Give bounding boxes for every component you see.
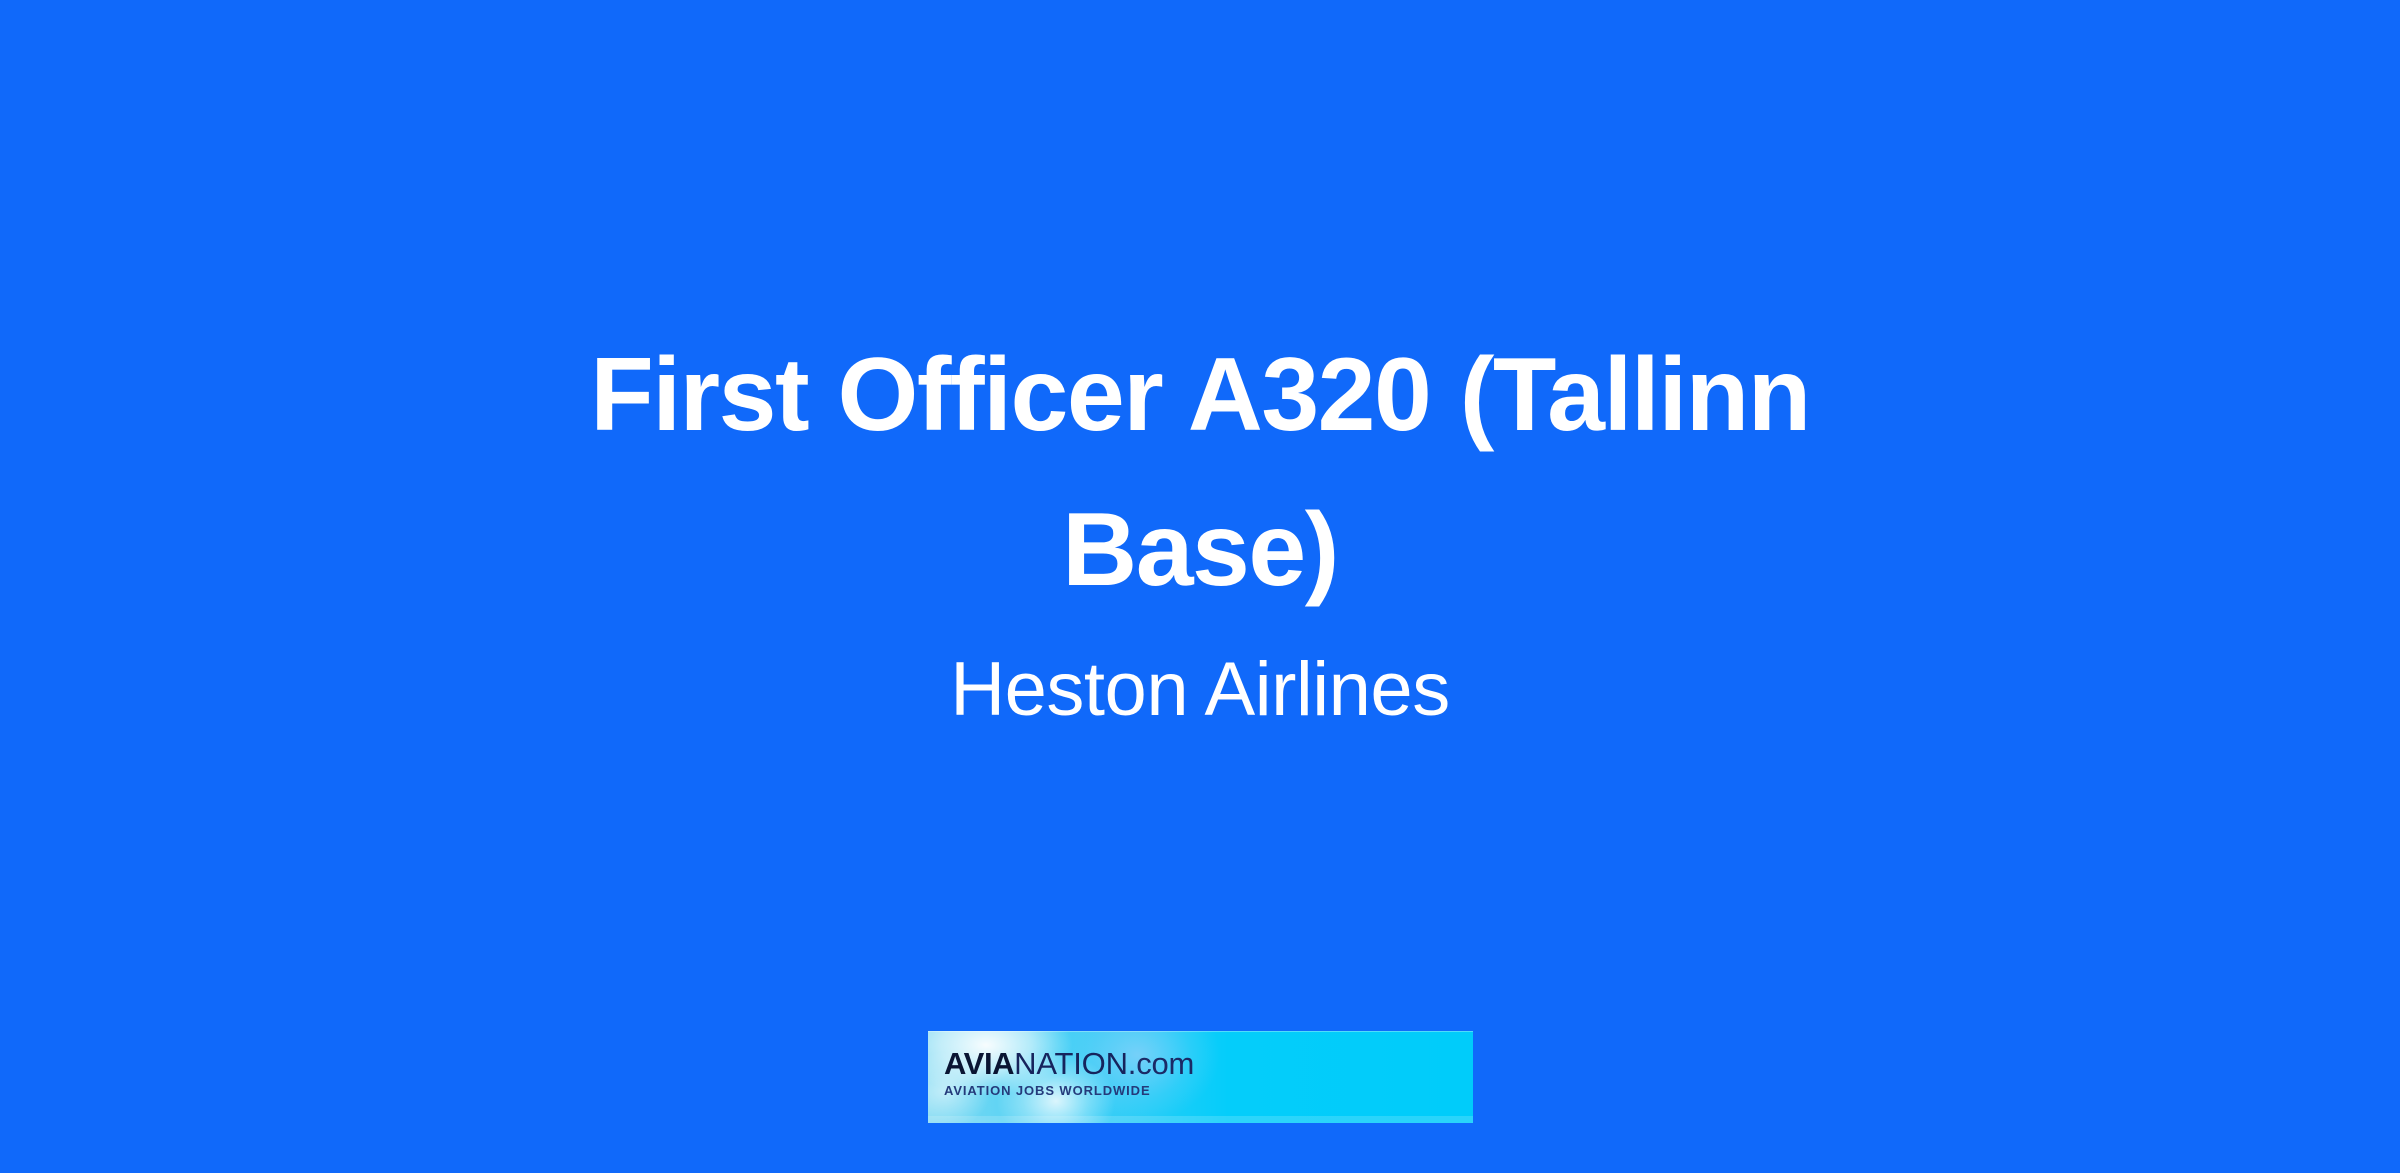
job-listing-card: First Officer A320 (Tallinn Base) Heston… [0, 0, 2400, 1173]
brand-wordmark-light: NATION [1014, 1046, 1128, 1081]
brand-wordmark: AVIANATION.com [944, 1047, 1194, 1081]
headline-block: First Officer A320 (Tallinn Base) Heston… [0, 0, 2400, 738]
brand-logo: AVIANATION.com AVIATION JOBS WORLDWIDE [944, 1047, 1194, 1099]
brand-tagline: AVIATION JOBS WORLDWIDE [944, 1083, 1194, 1099]
company-name: Heston Airlines [350, 642, 2050, 738]
page-title: First Officer A320 (Tallinn Base) [490, 318, 1910, 628]
avianation-brand-banner[interactable]: AVIANATION.com AVIATION JOBS WORLDWIDE [928, 1031, 1473, 1123]
brand-wordmark-tld: .com [1128, 1046, 1194, 1081]
brand-wordmark-bold: AVIA [944, 1046, 1014, 1081]
